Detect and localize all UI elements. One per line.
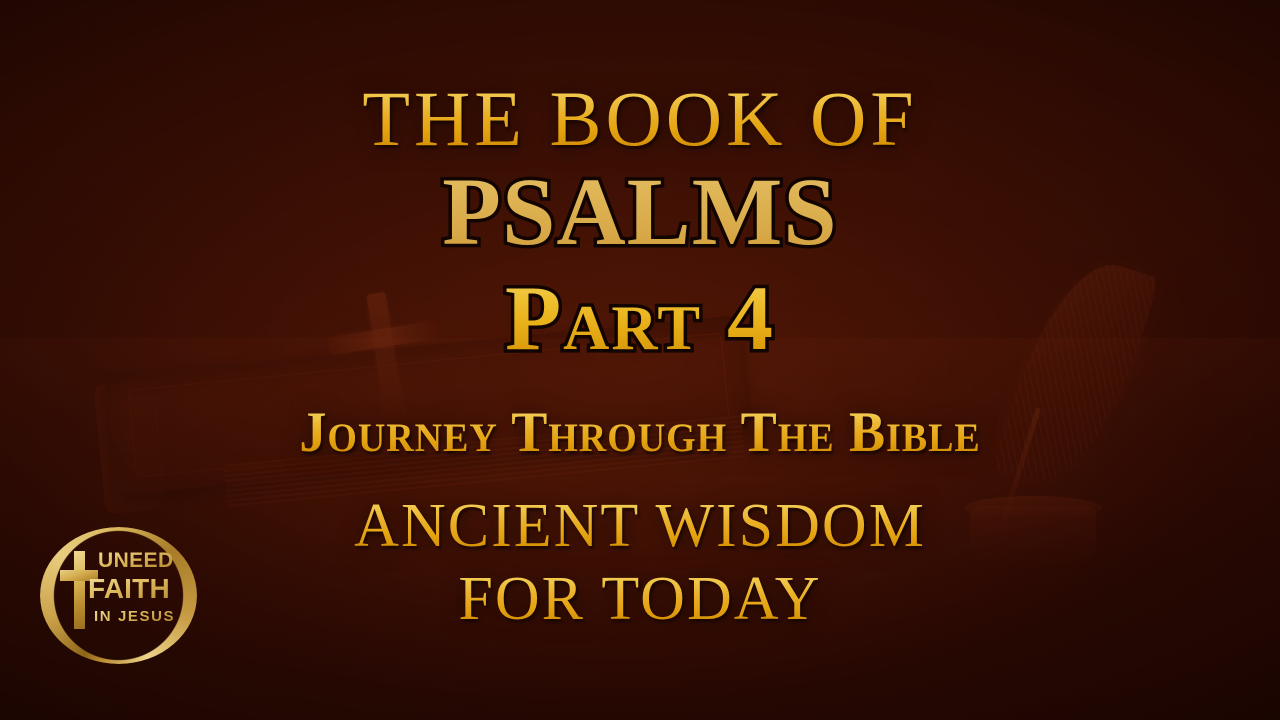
cross-vertical bbox=[74, 551, 85, 629]
logo-mark: UNEED FAITH IN JESUS bbox=[56, 550, 182, 642]
series-subtitle-text: Journey Through The Bible bbox=[32, 404, 1248, 461]
logo-wordmark: UNEED FAITH IN JESUS bbox=[98, 550, 184, 624]
series-prefix-text: THE BOOK OF bbox=[0, 80, 1280, 158]
title-slide: THE BOOK OF PSALMS PSALMS Part 4 Part 4 … bbox=[0, 0, 1280, 720]
book-name-text: PSALMS bbox=[0, 164, 1280, 260]
logo-line-2: FAITH bbox=[88, 575, 184, 603]
logo-line-1: UNEED bbox=[98, 550, 184, 571]
logo-line-3: IN JESUS bbox=[94, 609, 184, 624]
brand-logo[interactable]: UNEED FAITH IN JESUS bbox=[40, 527, 197, 664]
part-label-text: Part 4 bbox=[0, 272, 1280, 364]
